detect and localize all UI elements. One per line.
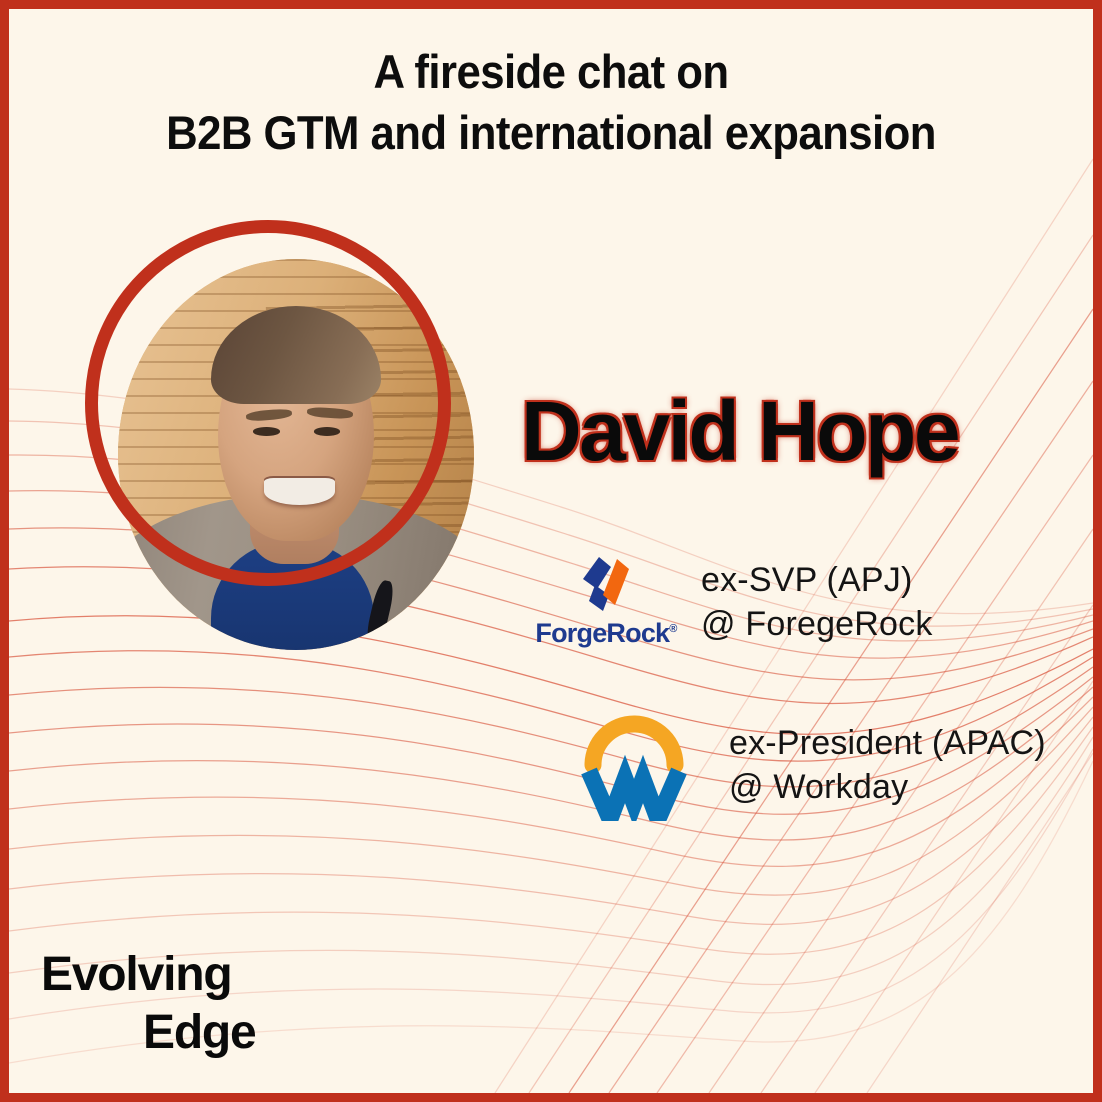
forgerock-wordmark-text: ForgeRock — [535, 618, 669, 648]
speaker-name: David Hope — [521, 383, 958, 480]
credential-text-forgerock: ex-SVP (APJ) @ ForegeRock — [701, 558, 933, 646]
brand-line-2: Edge — [41, 1004, 256, 1063]
forgerock-trademark: ® — [669, 623, 676, 635]
speaker-portrait — [85, 220, 475, 650]
brand-line-1: Evolving — [41, 946, 256, 1005]
poster-inner-surface: A fireside chat on B2B GTM and internati… — [9, 9, 1093, 1093]
portrait-ring-accent — [85, 220, 451, 586]
poster-canvas: A fireside chat on B2B GTM and internati… — [0, 0, 1102, 1102]
credential-text-workday: ex-President (APAC) @ Workday — [729, 721, 1046, 809]
page-title: A fireside chat on B2B GTM and internati… — [47, 41, 1055, 163]
workday-logo-icon — [579, 709, 689, 821]
workday-logo — [549, 709, 719, 821]
credential-row-forgerock: ForgeRock® ex-SVP (APJ) @ ForegeRock — [521, 555, 933, 649]
forgerock-logo: ForgeRock® — [521, 555, 691, 649]
brand-logo: Evolving Edge — [41, 946, 256, 1063]
forgerock-wordmark: ForgeRock® — [535, 618, 676, 649]
forgerock-logo-icon — [579, 555, 633, 613]
credential-row-workday: ex-President (APAC) @ Workday — [549, 709, 1046, 821]
